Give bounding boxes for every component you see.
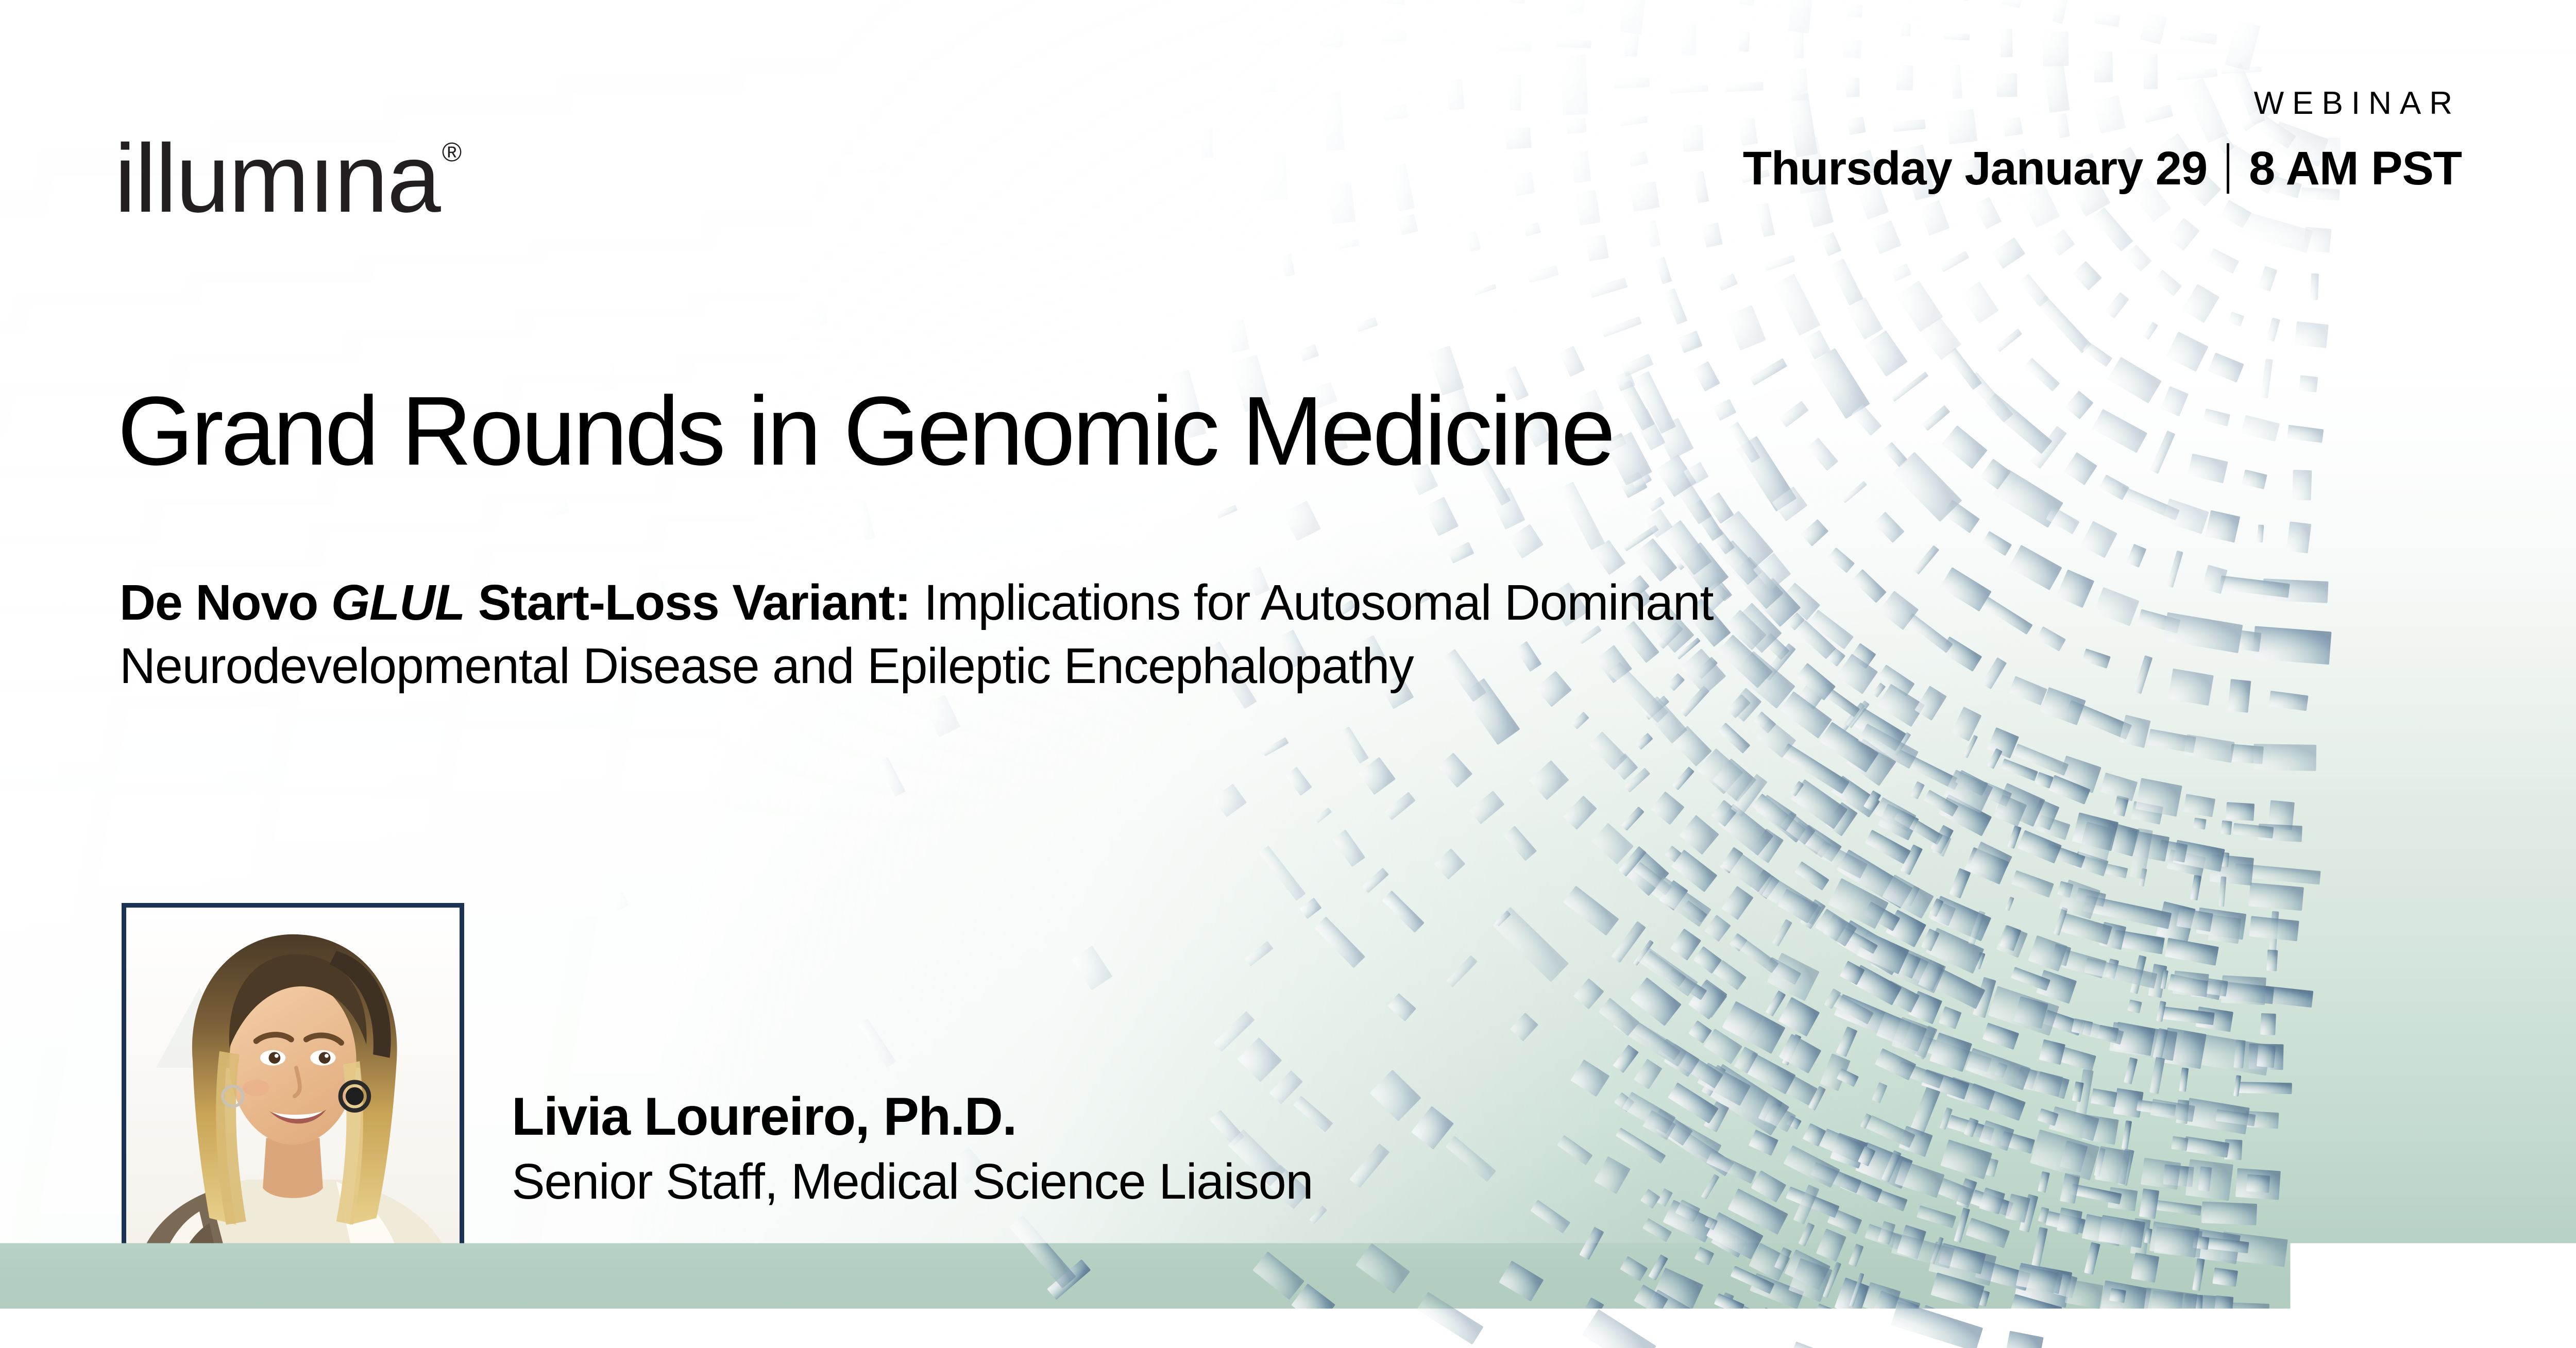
speaker-name: Livia Loureiro, Ph.D. xyxy=(512,1087,1313,1147)
webinar-time: 8 AM PST xyxy=(2249,144,2462,194)
illumina-logo: illumına® xyxy=(114,130,460,227)
page-title: Grand Rounds in Genomic Medicine xyxy=(117,382,1613,480)
webinar-label: WEBINAR xyxy=(1743,88,2462,120)
subtitle-lead: De Novo xyxy=(120,574,331,630)
logo-wordmark: illumına xyxy=(114,124,440,232)
webinar-meta: WEBINAR Thursday January 29 8 AM PST xyxy=(1743,88,2462,194)
datetime-divider xyxy=(2227,143,2229,194)
speaker-photo xyxy=(122,903,464,1273)
speaker-info: Livia Loureiro, Ph.D. Senior Staff, Medi… xyxy=(512,1087,1313,1210)
subtitle-variant: Start-Loss Variant: xyxy=(465,574,910,630)
webinar-date: Thursday January 29 xyxy=(1743,144,2207,194)
registered-trademark-icon: ® xyxy=(442,138,462,167)
webinar-promo-banner: illumına® WEBINAR Thursday January 29 8 … xyxy=(0,0,2576,1348)
speaker-role: Senior Staff, Medical Science Liaison xyxy=(512,1154,1313,1210)
webinar-datetime: Thursday January 29 8 AM PST xyxy=(1743,143,2462,194)
subtitle-gene-name: GLUL xyxy=(331,574,465,630)
webinar-subtitle: De Novo GLUL Start-Loss Variant: Implica… xyxy=(120,571,1974,697)
